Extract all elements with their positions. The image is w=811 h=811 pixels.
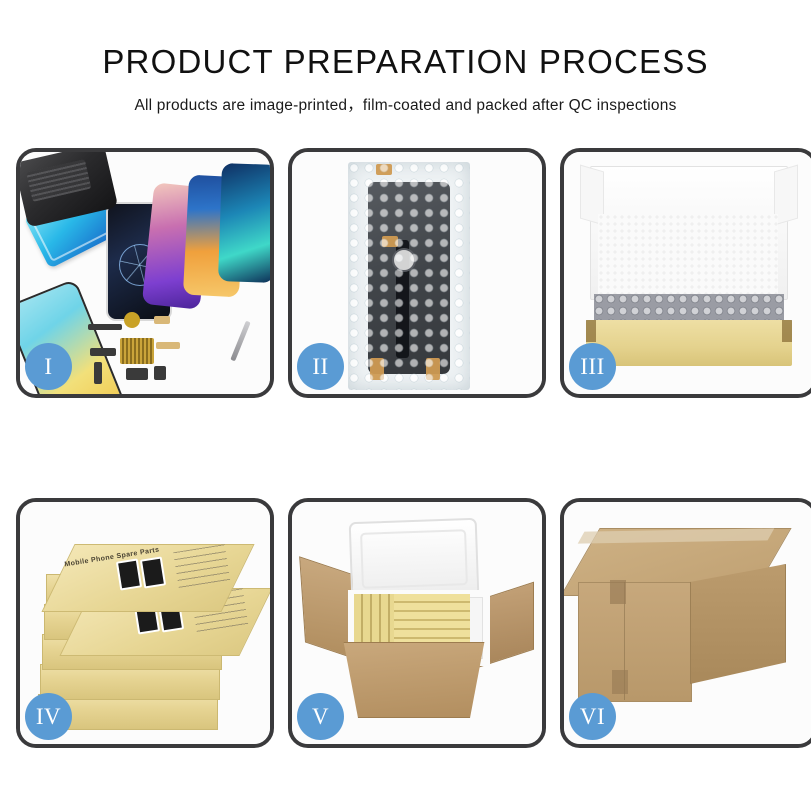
speaker-part-icon: [124, 312, 140, 328]
carton-tape-lower-icon: [612, 670, 628, 694]
small-flex-icon: [90, 348, 116, 356]
process-step-panel-3[interactable]: III: [560, 148, 811, 398]
connector-part-icon: [154, 316, 170, 324]
box-product-image-upper-b: [140, 556, 166, 588]
box-product-image-upper-a: [116, 558, 142, 590]
page-subtitle: All products are image-printed，film-coat…: [0, 93, 811, 115]
ribbon-cable-icon: [156, 342, 180, 349]
step-badge-1: I: [25, 343, 72, 390]
teal-phone-icon: [218, 163, 270, 283]
process-step-panel-2[interactable]: II: [288, 148, 546, 398]
step-badge-5: V: [297, 693, 344, 740]
step-badge-2: II: [297, 343, 344, 390]
carton-front-face-icon: [578, 582, 692, 702]
process-step-panel-4[interactable]: Mobile Phone Spare Parts Mobile Phone Sp…: [16, 498, 274, 748]
button-part-icon: [126, 368, 148, 380]
sim-tray-icon: [154, 366, 166, 380]
step-badge-4: IV: [25, 693, 72, 740]
foam-lid-icon: [349, 518, 480, 600]
packed-boxes-side-icon: [354, 594, 394, 646]
camera-module-icon: [94, 362, 102, 384]
foam-sheet-icon: [598, 214, 778, 296]
flex-strip-icon: [88, 324, 122, 330]
box-spec-lines-upper: [173, 544, 231, 592]
page-title: PRODUCT PREPARATION PROCESS: [0, 44, 811, 80]
tweezers-tool-icon: [230, 321, 250, 362]
page-header: PRODUCT PREPARATION PROCESS All products…: [0, 0, 811, 115]
bubble-wrap-bag-icon: [348, 162, 470, 390]
bubble-overlay-icon: [348, 162, 470, 390]
process-step-panel-5[interactable]: V: [288, 498, 546, 748]
process-steps-grid: I II III: [16, 148, 796, 748]
carton-tape-upper-icon: [610, 580, 626, 604]
ic-grid-icon: [120, 338, 154, 364]
yellow-box-tray-icon: [586, 320, 792, 366]
carton-body-icon: [334, 642, 494, 718]
step-badge-6: VI: [569, 693, 616, 740]
step-badge-3: III: [569, 343, 616, 390]
process-step-panel-6[interactable]: VI: [560, 498, 811, 748]
process-step-panel-1[interactable]: I: [16, 148, 274, 398]
carton-side-face-icon: [690, 564, 786, 684]
